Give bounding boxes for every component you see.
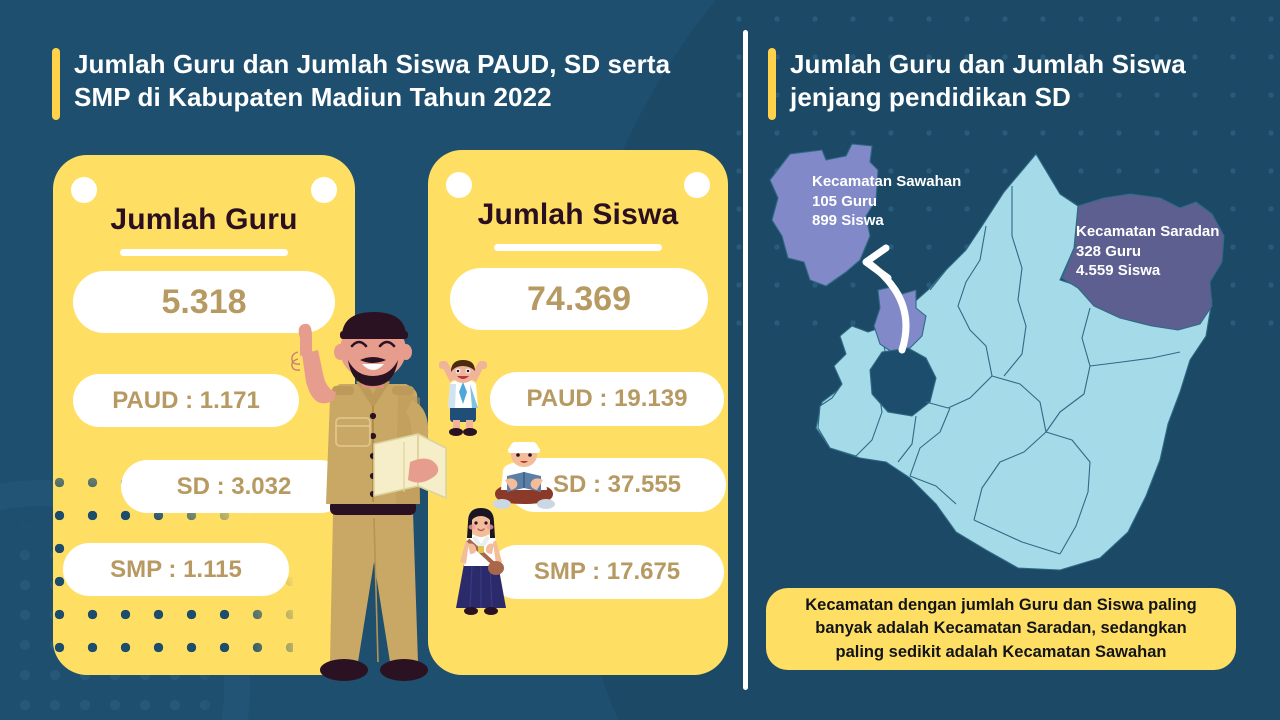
student-paud-illustration [432, 360, 494, 438]
map-label-sawahan: Kecamatan Sawahan 105 Guru 899 Siswa [812, 172, 961, 231]
summary-note: Kecamatan dengan jumlah Guru dan Siswa p… [766, 588, 1236, 670]
right-header: Jumlah Guru dan Jumlah Siswa jenjang pen… [768, 48, 1238, 120]
student-sd-illustration [485, 442, 563, 514]
sawahan-guru: 105 Guru [812, 192, 961, 212]
card-guru-title: Jumlah Guru [53, 203, 355, 237]
sawahan-name: Kecamatan Sawahan [812, 172, 961, 192]
saradan-guru: 328 Guru [1076, 242, 1219, 262]
card-guru-underline [120, 249, 288, 256]
punch-hole-left-icon [446, 172, 472, 198]
left-title: Jumlah Guru dan Jumlah Siswa PAUD, SD se… [74, 48, 670, 115]
siswa-smp-value: SMP : 17.675 [490, 545, 724, 599]
left-header: Jumlah Guru dan Jumlah Siswa PAUD, SD se… [52, 48, 712, 120]
sawahan-siswa: 899 Siswa [812, 211, 961, 231]
student-smp-illustration [448, 508, 514, 618]
guru-smp-value: SMP : 1.115 [63, 543, 289, 596]
punch-hole-left-icon [71, 177, 97, 203]
punch-hole-right-icon [684, 172, 710, 198]
right-title: Jumlah Guru dan Jumlah Siswa jenjang pen… [790, 48, 1186, 115]
accent-bar-right [768, 48, 776, 120]
saradan-siswa: 4.559 Siswa [1076, 261, 1219, 281]
siswa-paud-value: PAUD : 19.139 [490, 372, 724, 426]
card-siswa-title: Jumlah Siswa [428, 198, 728, 232]
vertical-divider [743, 30, 748, 690]
card-siswa-underline [494, 244, 662, 251]
guru-paud-value: PAUD : 1.171 [73, 374, 299, 427]
accent-bar-left [52, 48, 60, 120]
infographic-canvas: Jumlah Guru dan Jumlah Siswa PAUD, SD se… [0, 0, 1280, 720]
siswa-total-value: 74.369 [450, 268, 708, 330]
punch-hole-right-icon [311, 177, 337, 203]
map-label-saradan: Kecamatan Saradan 328 Guru 4.559 Siswa [1076, 222, 1219, 281]
saradan-name: Kecamatan Saradan [1076, 222, 1219, 242]
